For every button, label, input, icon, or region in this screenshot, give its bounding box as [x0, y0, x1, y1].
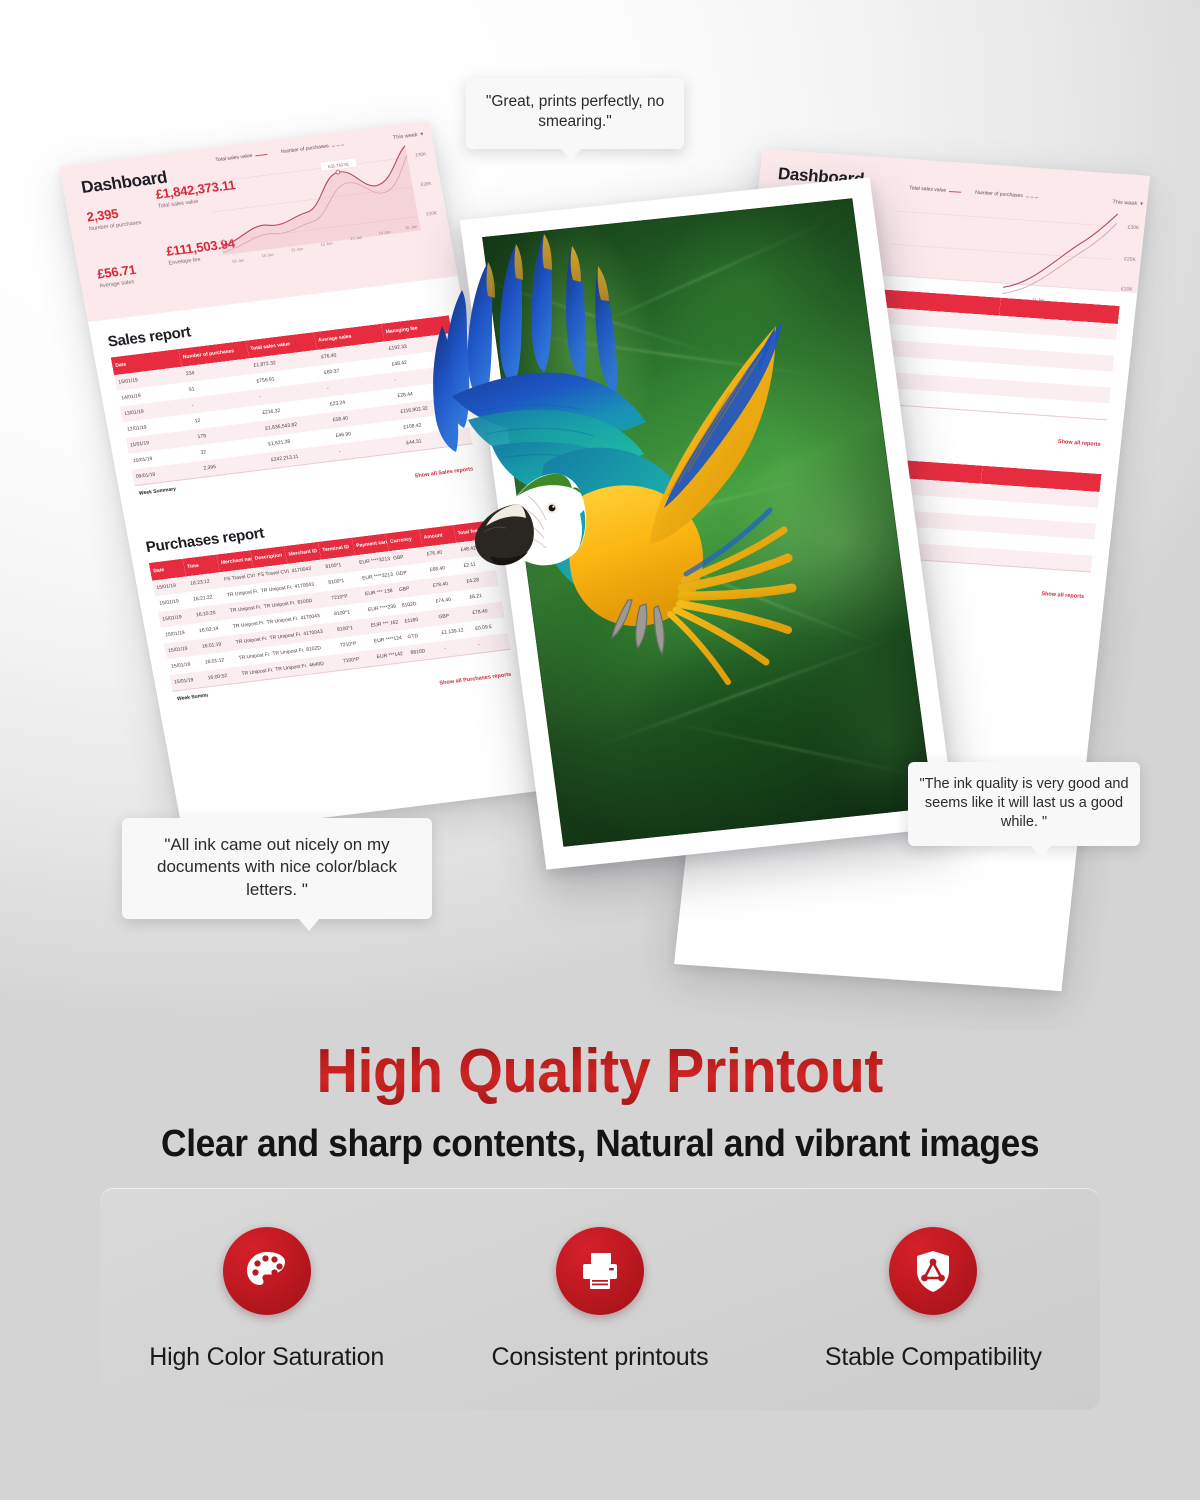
feature-label: Consistent printouts — [492, 1343, 709, 1372]
feature-stable-compatibility: Stable Compatibility — [783, 1227, 1083, 1372]
purchases-report-section: Purchases report Date Time Merchant name… — [126, 482, 534, 734]
testimonial-text: "All ink came out nicely on my documents… — [157, 835, 397, 899]
testimonial-bubble-top: "Great, prints perfectly, no smearing." — [466, 78, 684, 149]
photo-printout — [460, 177, 957, 869]
kpi-average-sales: £56.71 Average sales — [96, 262, 139, 289]
svg-text:13 Jan: 13 Jan — [350, 235, 363, 241]
bubble-tail — [1030, 845, 1052, 858]
chart-y-tick: £20K — [1124, 256, 1136, 263]
testimonial-text: "The ink quality is very good and seems … — [919, 776, 1128, 830]
chart-y-tick: £30K — [1127, 224, 1139, 231]
svg-text:11 Jan: 11 Jan — [291, 246, 304, 252]
feature-label: Stable Compatibility — [825, 1343, 1042, 1372]
svg-text:11 Jan: 11 Jan — [1032, 297, 1046, 303]
svg-text:09 Jan: 09 Jan — [232, 257, 245, 263]
photo-vignette — [482, 198, 933, 846]
bubble-tail — [298, 918, 320, 931]
feature-label: High Color Saturation — [149, 1343, 384, 1372]
feature-highlights-bar: High Color Saturation Consistent printou… — [100, 1188, 1100, 1410]
printer-icon — [556, 1227, 644, 1315]
chart-y-tick: £10K — [1121, 286, 1133, 293]
testimonial-bubble-left: "All ink came out nicely on my documents… — [122, 818, 432, 919]
legend-swatch-dashed — [332, 144, 344, 146]
testimonial-text: "Great, prints perfectly, no smearing." — [486, 93, 664, 130]
legend-swatch-dashed — [1026, 196, 1038, 198]
feature-consistent-printouts: Consistent printouts — [450, 1227, 750, 1372]
kpi-number-of-purchases: 2,395 Number of purchases — [85, 203, 141, 232]
page-title: High Quality Printout — [317, 1036, 884, 1107]
svg-text:12 Jan: 12 Jan — [320, 240, 333, 246]
product-marketing-banner: Dashboard 2,395 Number of purchases £1,8… — [0, 0, 1200, 1500]
feature-high-color-saturation: High Color Saturation — [117, 1227, 417, 1372]
chevron-down-icon: ▾ — [420, 131, 424, 137]
bubble-tail — [560, 148, 582, 161]
svg-text:10 Jan: 10 Jan — [261, 252, 274, 258]
legend-swatch-solid — [255, 153, 267, 155]
svg-text:14 Jan: 14 Jan — [378, 229, 391, 235]
dashboard-chart-right: Total sales value Number of purchases Th… — [881, 184, 1144, 321]
marketing-headline-block: High Quality Printout Clear and sharp co… — [0, 1036, 1200, 1166]
shield-network-icon — [889, 1227, 977, 1315]
page-subtitle: Clear and sharp contents, Natural and vi… — [161, 1123, 1039, 1166]
dashboard-chart-left: Total sales value Number of purchases Th… — [199, 131, 446, 287]
sales-line-chart: 11 Jan — [882, 190, 1143, 311]
printed-photo-image — [482, 198, 933, 846]
hero-composition: Dashboard 2,395 Number of purchases £1,8… — [0, 0, 1200, 1030]
legend-swatch-solid — [949, 190, 961, 192]
paint-palette-icon — [223, 1227, 311, 1315]
testimonial-bubble-right: "The ink quality is very good and seems … — [908, 762, 1140, 846]
chevron-down-icon: ▾ — [1140, 201, 1143, 207]
